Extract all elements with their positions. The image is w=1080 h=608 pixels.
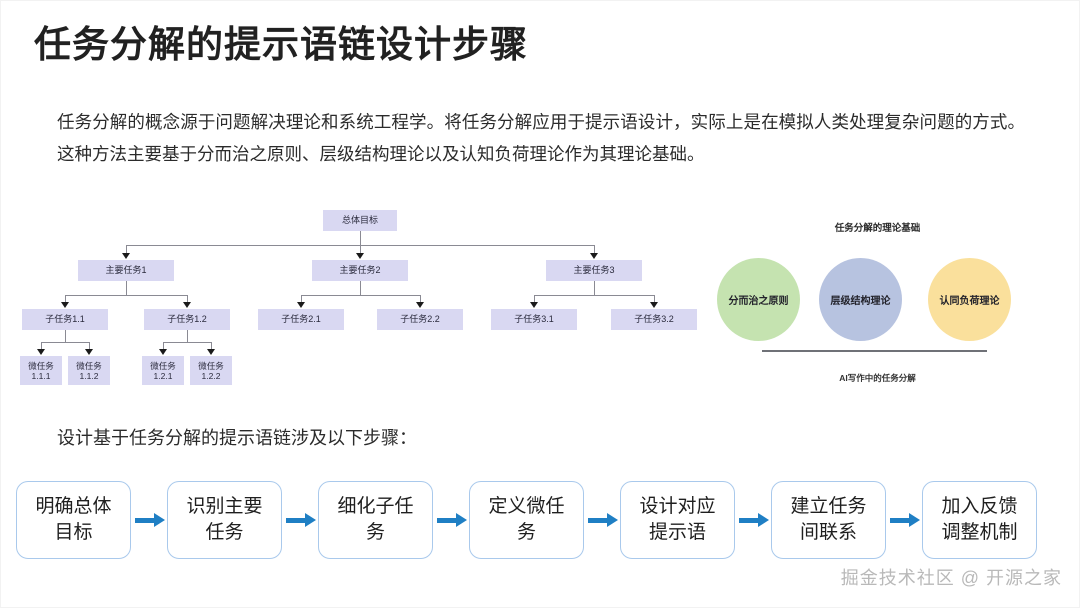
- tree-node-sub-3-2: 子任务3.2: [611, 309, 697, 330]
- tree-arrow: [416, 302, 424, 308]
- tree-node-micro-1-2-1: 微任务 1.2.1: [142, 356, 184, 385]
- tree-connector: [163, 342, 211, 343]
- tree-connector: [301, 295, 420, 296]
- tree-node-micro-1-1-1: 微任务 1.1.1: [20, 356, 62, 385]
- flow-arrow-icon: [735, 511, 771, 529]
- theory-diagram-caption: AI写作中的任务分解: [705, 372, 1050, 384]
- tree-node-main-3: 主要任务3: [546, 260, 642, 281]
- flow-arrow-icon: [131, 511, 167, 529]
- theory-diagram-title: 任务分解的理论基础: [705, 220, 1050, 234]
- flow-arrow-icon: [584, 511, 620, 529]
- theory-diagram-baseline: [762, 350, 987, 352]
- tree-arrow: [297, 302, 305, 308]
- slide-canvas: 任务分解的提示语链设计步骤 任务分解的概念源于问题解决理论和系统工程学。将任务分…: [0, 0, 1080, 608]
- tree-connector: [594, 281, 595, 295]
- flow-arrow-icon: [282, 511, 318, 529]
- steps-flow-chart: 明确总体 目标 识别主要 任务 细化子任 务 定义微任 务 设计对应 提示语 建…: [16, 479, 1066, 561]
- theory-circle-divide-and-conquer: 分而治之原则: [717, 258, 800, 341]
- theory-circle-hierarchy: 层级结构理论: [819, 258, 902, 341]
- tree-node-sub-2-2: 子任务2.2: [377, 309, 463, 330]
- page-title: 任务分解的提示语链设计步骤: [34, 22, 528, 68]
- flow-step-6: 建立任务 间联系: [771, 481, 886, 559]
- tree-connector: [65, 330, 66, 342]
- theory-foundation-diagram: 任务分解的理论基础 分而治之原则 层级结构理论 认同负荷理论 AI写作中的任务分…: [705, 210, 1050, 395]
- flow-step-7: 加入反馈 调整机制: [922, 481, 1037, 559]
- tree-node-sub-1-1: 子任务1.1: [22, 309, 108, 330]
- tree-arrow: [61, 302, 69, 308]
- tree-node-sub-1-2: 子任务1.2: [144, 309, 230, 330]
- tree-arrow: [159, 349, 167, 355]
- tree-arrow: [590, 253, 598, 259]
- flow-step-3: 细化子任 务: [318, 481, 433, 559]
- watermark: 掘金技术社区 @ 开源之家: [841, 564, 1062, 590]
- tree-connector: [65, 295, 187, 296]
- task-decomposition-tree: 总体目标 主要任务1 主要任务2 主要任务3: [20, 198, 700, 398]
- tree-connector: [126, 281, 127, 295]
- tree-arrow: [207, 349, 215, 355]
- tree-arrow: [183, 302, 191, 308]
- tree-connector: [360, 281, 361, 295]
- tree-arrow: [650, 302, 658, 308]
- tree-connector: [187, 330, 188, 342]
- tree-node-sub-3-1: 子任务3.1: [491, 309, 577, 330]
- tree-connector: [534, 295, 654, 296]
- tree-connector: [360, 231, 361, 245]
- steps-intro-text: 设计基于任务分解的提示语链涉及以下步骤：: [57, 424, 417, 452]
- tree-arrow: [122, 253, 130, 259]
- tree-arrow: [85, 349, 93, 355]
- tree-arrow: [530, 302, 538, 308]
- tree-connector: [41, 342, 89, 343]
- tree-node-sub-2-1: 子任务2.1: [258, 309, 344, 330]
- flow-step-1: 明确总体 目标: [16, 481, 131, 559]
- flow-arrow-icon: [886, 511, 922, 529]
- tree-node-micro-1-2-2: 微任务 1.2.2: [190, 356, 232, 385]
- tree-node-micro-1-1-2: 微任务 1.1.2: [68, 356, 110, 385]
- flow-step-5: 设计对应 提示语: [620, 481, 735, 559]
- flow-step-4: 定义微任 务: [469, 481, 584, 559]
- tree-node-root: 总体目标: [323, 210, 397, 231]
- tree-node-main-2: 主要任务2: [312, 260, 408, 281]
- flow-arrow-icon: [433, 511, 469, 529]
- tree-node-main-1: 主要任务1: [78, 260, 174, 281]
- intro-paragraph: 任务分解的概念源于问题解决理论和系统工程学。将任务分解应用于提示语设计，实际上是…: [57, 106, 1025, 170]
- flow-step-2: 识别主要 任务: [167, 481, 282, 559]
- tree-arrow: [356, 253, 364, 259]
- theory-circle-cognitive-load: 认同负荷理论: [928, 258, 1011, 341]
- tree-arrow: [37, 349, 45, 355]
